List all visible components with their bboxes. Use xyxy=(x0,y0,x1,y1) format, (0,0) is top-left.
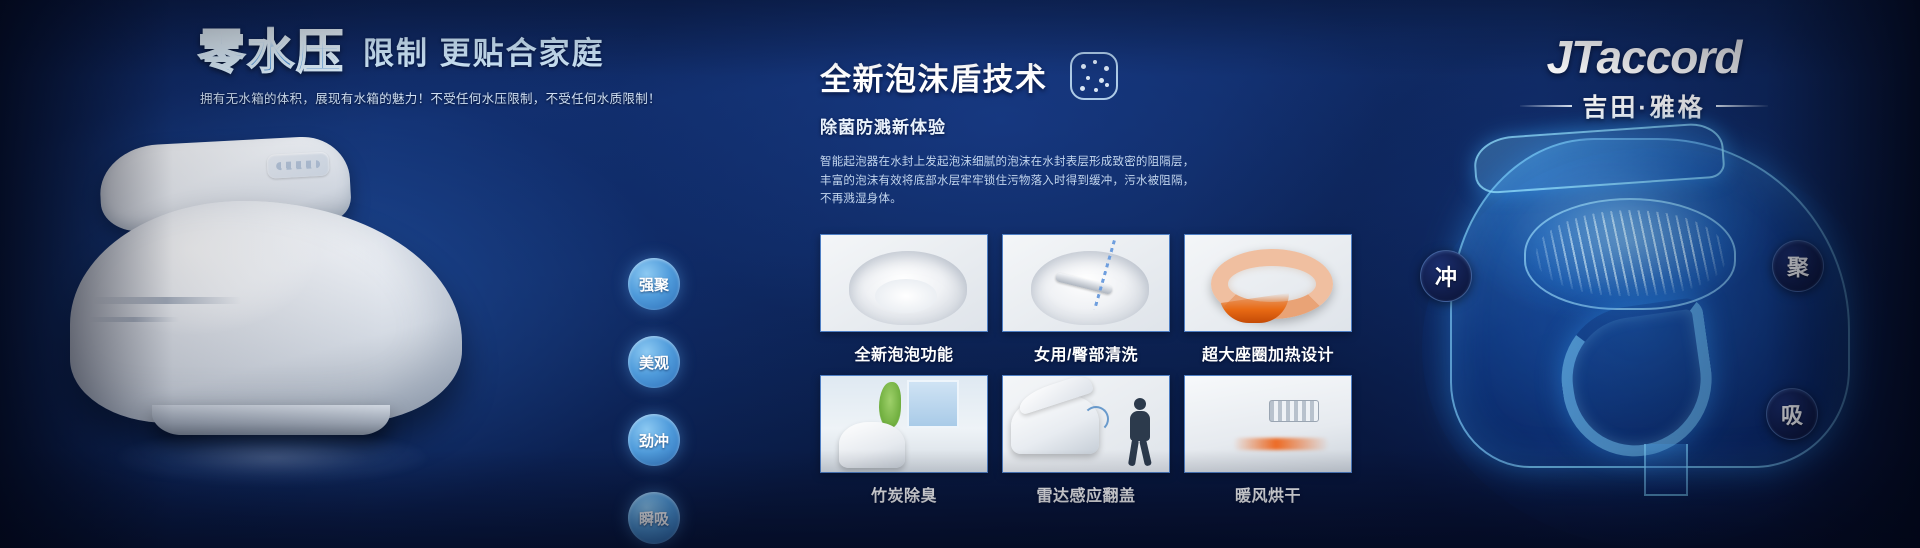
middle-body-line-3: 不再溅湿身体。 xyxy=(820,190,1380,209)
feature-card-grid: 全新泡泡功能 女用/臀部清洗 超大座圈加热设计 竹炭除臭 xyxy=(820,234,1380,506)
person-head xyxy=(1134,398,1146,410)
middle-subtitle: 除菌防溅新体验 xyxy=(820,113,1380,138)
middle-title-row: 全新泡沫盾技术 xyxy=(820,52,1380,100)
logo-wordmark: JTaccord xyxy=(1547,30,1742,84)
logo-text: JTaccord xyxy=(1547,31,1742,83)
leaf-icon xyxy=(879,382,901,428)
card-label: 竹炭除臭 xyxy=(820,482,988,506)
card-thumbnail-deodorize xyxy=(820,375,988,473)
toilet-floor-reflection xyxy=(118,431,426,485)
logo-rule-right xyxy=(1716,105,1768,107)
feature-pill-list: 强聚 美观 劲冲 瞬吸 xyxy=(628,258,680,544)
badge-suction: 吸 xyxy=(1766,388,1818,440)
xray-water-jets xyxy=(1536,210,1726,296)
person-leg-left xyxy=(1128,439,1139,467)
badge-gather: 聚 xyxy=(1772,240,1824,292)
headline-primary: 零水压 xyxy=(198,28,345,75)
middle-text-block: 全新泡沫盾技术 除菌防溅新体验 智能起泡器在水封上发起泡沫细腻的泡沫在水封表层形… xyxy=(820,52,1380,209)
person-torso xyxy=(1130,411,1150,441)
radar-wave-icon xyxy=(1083,406,1109,432)
card-label: 超大座圈加热设计 xyxy=(1184,341,1352,365)
pill-power-rinse[interactable]: 劲冲 xyxy=(628,414,680,466)
toilet-seam-lower xyxy=(88,317,180,322)
middle-title: 全新泡沫盾技术 xyxy=(820,54,1048,99)
toilet-control-panel xyxy=(267,152,330,179)
smart-toilet-photo xyxy=(60,135,480,465)
toilet-xray-cutaway xyxy=(1432,128,1872,548)
card-label: 全新泡泡功能 xyxy=(820,341,988,365)
bubble-shield-icon xyxy=(1070,52,1118,100)
person-icon xyxy=(1125,398,1155,466)
toilet-seam-upper xyxy=(92,297,242,304)
logo-chinese-name: 吉田·雅格 xyxy=(1582,88,1705,124)
toilet-illustration xyxy=(839,422,905,468)
middle-body-line-2: 丰富的泡沫有效将底部水层牢牢锁住污物落入时得到缓冲，污水被阻隔， xyxy=(820,172,1380,191)
middle-body-line-1: 智能起泡器在水封上发起泡沫细腻的泡沫在水封表层形成致密的阻隔层， xyxy=(820,153,1380,172)
logo-rule-left xyxy=(1520,105,1572,107)
badge-flush: 冲 xyxy=(1420,250,1472,302)
card-bamboo-charcoal-deodorize[interactable]: 竹炭除臭 xyxy=(820,375,988,506)
card-heated-seat[interactable]: 超大座圈加热设计 xyxy=(1184,234,1352,365)
product-banner: 零水压 限制 更贴合家庭 拥有无水箱的体积，展现有水箱的魅力！不受任何水压限制，… xyxy=(0,0,1920,548)
card-thumbnail-warm-dry xyxy=(1184,375,1352,473)
headline-secondary: 限制 更贴合家庭 xyxy=(363,37,605,75)
card-thumbnail-wash xyxy=(1002,234,1170,332)
card-radar-auto-lid[interactable]: 雷达感应翻盖 xyxy=(1002,375,1170,506)
card-thumbnail-radar-lid xyxy=(1002,375,1170,473)
dryer-scene xyxy=(1185,376,1351,472)
brand-logo[interactable]: JTaccord 吉田·雅格 xyxy=(1494,30,1794,124)
toilet-bowl-foam-illustration xyxy=(849,251,967,325)
card-label: 暖风烘干 xyxy=(1184,482,1352,506)
card-foam-function[interactable]: 全新泡泡功能 xyxy=(820,234,988,365)
left-headline-group: 零水压 限制 更贴合家庭 xyxy=(198,28,605,75)
card-thumbnail-heated-seat xyxy=(1184,234,1352,332)
middle-body-text: 智能起泡器在水封上发起泡沫细腻的泡沫在水封表层形成致密的阻隔层， 丰富的泡沫有效… xyxy=(820,153,1380,209)
person-leg-right xyxy=(1139,439,1152,467)
xray-drain-outlet xyxy=(1644,444,1688,496)
card-thumbnail-foam xyxy=(820,234,988,332)
toilet-body xyxy=(70,201,462,423)
headline-description: 拥有无水箱的体积，展现有水箱的魅力！不受任何水压限制，不受任何水质限制！ xyxy=(200,88,820,107)
pill-aesthetic[interactable]: 美观 xyxy=(628,336,680,388)
card-feminine-rear-wash[interactable]: 女用/臀部清洗 xyxy=(1002,234,1170,365)
warm-air-glow xyxy=(1233,438,1329,450)
pill-strong-flush[interactable]: 强聚 xyxy=(628,258,680,310)
card-warm-air-dry[interactable]: 暖风烘干 xyxy=(1184,375,1352,506)
card-label: 女用/臀部清洗 xyxy=(1002,341,1170,365)
pill-instant-suction[interactable]: 瞬吸 xyxy=(628,492,680,544)
air-vent-icon xyxy=(1269,400,1319,422)
card-label: 雷达感应翻盖 xyxy=(1002,482,1170,506)
logo-chinese-row: 吉田·雅格 xyxy=(1494,88,1794,124)
